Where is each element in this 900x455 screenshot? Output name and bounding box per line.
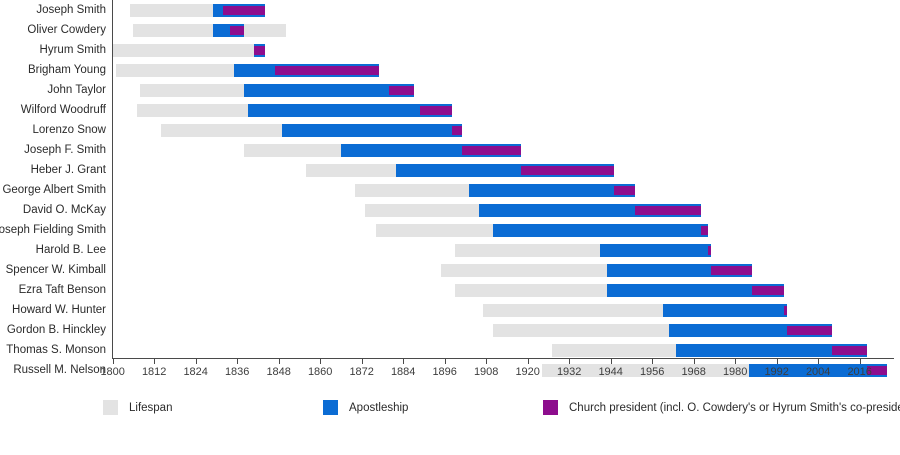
bar-presidency <box>230 26 244 35</box>
x-tick <box>611 359 612 364</box>
x-tick-label: 1968 <box>674 366 714 378</box>
legend-swatch-icon <box>543 400 558 415</box>
x-tick <box>818 359 819 364</box>
bar-presidency <box>452 126 462 135</box>
timeline-row: Spencer W. Kimball <box>0 260 900 280</box>
timeline-row: John Taylor <box>0 80 900 100</box>
x-tick-label: 1860 <box>300 366 340 378</box>
legend-swatch-icon <box>323 400 338 415</box>
bar-presidency <box>708 246 711 255</box>
row-label-hyrum-smith: Hyrum Smith <box>0 42 106 58</box>
timeline-row: Wilford Woodruff <box>0 100 900 120</box>
x-tick <box>735 359 736 364</box>
legend-label: Lifespan <box>129 402 172 414</box>
y-axis-line <box>112 0 113 358</box>
x-tick-label: 1848 <box>259 366 299 378</box>
bar-apostleship <box>600 244 711 257</box>
x-tick-label: 2004 <box>798 366 838 378</box>
x-tick <box>113 359 114 364</box>
bar-presidency <box>635 206 701 215</box>
x-tick-label: 1872 <box>342 366 382 378</box>
bar-presidency <box>389 86 413 95</box>
x-tick-label: 1812 <box>134 366 174 378</box>
bar-lifespan <box>113 44 265 57</box>
bar-apostleship <box>663 304 788 317</box>
x-tick-label: 1980 <box>715 366 755 378</box>
row-label-thomas-s-monson: Thomas S. Monson <box>0 342 106 358</box>
x-tick <box>652 359 653 364</box>
x-tick-label: 1824 <box>176 366 216 378</box>
x-tick <box>694 359 695 364</box>
timeline-row: Harold B. Lee <box>0 240 900 260</box>
row-label-gordon-b-hinckley: Gordon B. Hinckley <box>0 322 106 338</box>
x-tick-label: 1896 <box>425 366 465 378</box>
x-tick-label: 1932 <box>549 366 589 378</box>
row-label-joseph-smith: Joseph Smith <box>0 2 106 18</box>
timeline-row: Brigham Young <box>0 60 900 80</box>
timeline-row: Hyrum Smith <box>0 40 900 60</box>
timeline-row: David O. McKay <box>0 200 900 220</box>
x-tick-label: 1800 <box>93 366 133 378</box>
timeline-row: Thomas S. Monson <box>0 340 900 360</box>
timeline-row: Howard W. Hunter <box>0 300 900 320</box>
x-tick <box>196 359 197 364</box>
row-label-spencer-w-kimball: Spencer W. Kimball <box>0 262 106 278</box>
x-tick <box>569 359 570 364</box>
chart-legend: LifespanApostleshipChurch president (inc… <box>0 400 900 430</box>
bar-presidency <box>254 46 264 55</box>
bar-presidency <box>787 326 832 335</box>
x-tick <box>486 359 487 364</box>
x-tick <box>279 359 280 364</box>
timeline-row: Joseph Fielding Smith <box>0 220 900 240</box>
timeline-row: Gordon B. Hinckley <box>0 320 900 340</box>
bar-presidency <box>614 186 635 195</box>
bar-presidency <box>784 306 787 315</box>
row-label-harold-b-lee: Harold B. Lee <box>0 242 106 258</box>
x-tick-label: 2016 <box>840 366 880 378</box>
legend-swatch-icon <box>103 400 118 415</box>
x-tick-label: 1992 <box>757 366 797 378</box>
row-label-wilford-woodruff: Wilford Woodruff <box>0 102 106 118</box>
legend-item[interactable]: Church president (incl. O. Cowdery's or … <box>543 400 900 415</box>
timeline-row: Heber J. Grant <box>0 160 900 180</box>
x-tick <box>237 359 238 364</box>
row-label-david-o-mckay: David O. McKay <box>0 202 106 218</box>
row-label-george-albert-smith: George Albert Smith <box>0 182 106 198</box>
x-tick <box>445 359 446 364</box>
bar-apostleship <box>469 184 635 197</box>
bar-apostleship <box>282 124 462 137</box>
timeline-row: Joseph Smith <box>0 0 900 20</box>
legend-label: Apostleship <box>349 402 408 414</box>
row-label-heber-j-grant: Heber J. Grant <box>0 162 106 178</box>
timeline-row: Oliver Cowdery <box>0 20 900 40</box>
bar-presidency <box>275 66 379 75</box>
timeline-row: Ezra Taft Benson <box>0 280 900 300</box>
x-tick <box>528 359 529 364</box>
x-tick <box>362 359 363 364</box>
bar-presidency <box>711 266 753 275</box>
row-label-brigham-young: Brigham Young <box>0 62 106 78</box>
x-tick <box>860 359 861 364</box>
bar-presidency <box>223 6 265 15</box>
row-label-russell-m-nelson: Russell M. Nelson <box>0 362 106 378</box>
x-tick <box>777 359 778 364</box>
bar-presidency <box>832 346 867 355</box>
row-label-lorenzo-snow: Lorenzo Snow <box>0 122 106 138</box>
bar-presidency <box>420 106 451 115</box>
timeline-row: Lorenzo Snow <box>0 120 900 140</box>
timeline-row: Joseph F. Smith <box>0 140 900 160</box>
row-label-howard-w-hunter: Howard W. Hunter <box>0 302 106 318</box>
bar-presidency <box>462 146 521 155</box>
timeline-row: George Albert Smith <box>0 180 900 200</box>
row-label-oliver-cowdery: Oliver Cowdery <box>0 22 106 38</box>
plot-area: Joseph SmithOliver CowderyHyrum SmithBri… <box>0 0 900 360</box>
x-tick-label: 1836 <box>217 366 257 378</box>
bar-lifespan <box>133 24 285 37</box>
x-tick <box>154 359 155 364</box>
row-label-joseph-f-smith: Joseph F. Smith <box>0 142 106 158</box>
x-tick-label: 1956 <box>632 366 672 378</box>
legend-item[interactable]: Apostleship <box>323 400 408 415</box>
legend-label: Church president (incl. O. Cowdery's or … <box>569 402 900 414</box>
row-label-joseph-fielding-smith: Joseph Fielding Smith <box>0 222 106 238</box>
bar-presidency <box>752 286 783 295</box>
x-tick-label: 1920 <box>508 366 548 378</box>
row-label-john-taylor: John Taylor <box>0 82 106 98</box>
bar-apostleship <box>493 224 707 237</box>
x-tick-label: 1908 <box>466 366 506 378</box>
timeline-chart: Joseph SmithOliver CowderyHyrum SmithBri… <box>0 0 900 455</box>
bar-presidency <box>701 226 708 235</box>
bar-apostleship <box>244 84 413 97</box>
row-label-ezra-taft-benson: Ezra Taft Benson <box>0 282 106 298</box>
legend-item[interactable]: Lifespan <box>103 400 172 415</box>
x-tick <box>320 359 321 364</box>
bar-presidency <box>521 166 614 175</box>
x-tick <box>403 359 404 364</box>
x-tick-label: 1944 <box>591 366 631 378</box>
x-tick-label: 1884 <box>383 366 423 378</box>
